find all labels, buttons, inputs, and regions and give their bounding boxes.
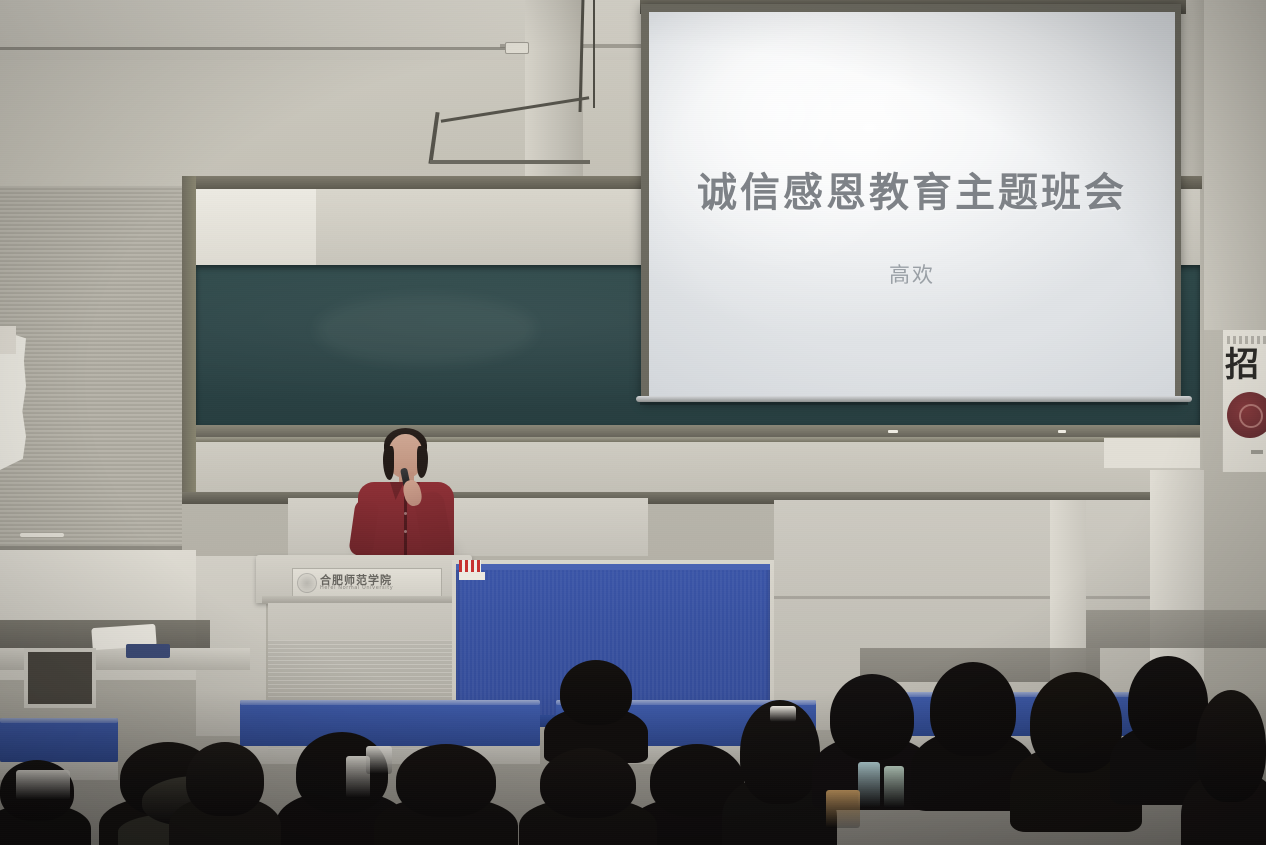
student-head bbox=[396, 744, 496, 817]
shelf-blue-box bbox=[126, 644, 170, 658]
student-desk-edge bbox=[0, 718, 118, 723]
poster-header-text bbox=[1227, 336, 1266, 344]
wall-pillar-far-right bbox=[1204, 0, 1266, 330]
water-bottle-icon bbox=[884, 766, 904, 808]
student-head bbox=[1030, 672, 1122, 773]
bulletin-board-top-edge bbox=[456, 564, 770, 570]
student-head bbox=[830, 674, 914, 760]
snack-pack-icon bbox=[826, 790, 860, 828]
speaker-hair-left bbox=[383, 446, 394, 480]
poster-footer-text bbox=[1251, 450, 1263, 454]
student-head bbox=[186, 742, 264, 816]
speaker-button-a bbox=[404, 512, 407, 515]
recruitment-poster: 招 bbox=[1222, 330, 1266, 472]
ceiling-cable-b bbox=[593, 0, 595, 108]
speaker-button-b bbox=[404, 530, 407, 533]
board-upper-panel-highlight bbox=[196, 189, 316, 265]
wall-behind-speaker bbox=[288, 498, 648, 556]
slide-author: 高欢 bbox=[649, 259, 1175, 289]
lecture-hall-screenshot: 诚信感恩教育主题班会 高欢 招 合肥师范学院 Hefei No bbox=[0, 0, 1266, 845]
student-head bbox=[1196, 690, 1266, 802]
chalk-tray bbox=[196, 425, 1200, 437]
projector-screen: 诚信感恩教育主题班会 高欢 bbox=[649, 12, 1175, 398]
student-head bbox=[560, 660, 632, 725]
wall-cable-horizontal bbox=[430, 160, 590, 164]
university-crest-icon bbox=[297, 573, 317, 593]
bulletin-board-note-white bbox=[459, 572, 485, 580]
tissue-box-icon bbox=[770, 706, 796, 722]
board-lower-panel bbox=[196, 442, 1200, 498]
ceiling-seam-left bbox=[0, 47, 540, 50]
slide-title: 诚信感恩教育主题班会 bbox=[649, 160, 1175, 218]
podium-logo-english: Hefei Normal University bbox=[320, 585, 436, 591]
torn-poster-remnant-small bbox=[0, 326, 16, 354]
wall-louver-panel bbox=[0, 186, 182, 550]
water-bottle-icon bbox=[858, 762, 880, 808]
bulletin-board-note-red bbox=[459, 560, 481, 572]
student-desk bbox=[240, 700, 540, 746]
chalk-piece-b bbox=[1058, 430, 1066, 433]
student-head bbox=[540, 748, 636, 818]
conduit-clip-left bbox=[505, 42, 529, 54]
board-right-white-panel bbox=[1104, 438, 1200, 468]
student-desk bbox=[0, 718, 118, 762]
wall-shadow-band-right bbox=[1086, 610, 1266, 648]
speaker-shirt-placket bbox=[404, 496, 407, 556]
poster-headline: 招 bbox=[1225, 348, 1259, 382]
student-desk-edge bbox=[240, 700, 540, 705]
chalk-piece-a bbox=[888, 430, 898, 433]
red-seal-inner-ring-icon bbox=[1239, 404, 1263, 428]
louver-handle[interactable] bbox=[20, 533, 64, 537]
paper-stack-icon bbox=[16, 770, 70, 800]
board-frame-left bbox=[182, 176, 196, 496]
wall-picture-frame bbox=[24, 648, 96, 708]
screen-bottom-shadow bbox=[640, 402, 1188, 405]
mug-icon bbox=[366, 746, 392, 774]
student-head bbox=[930, 662, 1016, 756]
wall-pillar-left bbox=[525, 0, 583, 180]
wall-right-seam bbox=[774, 596, 1204, 599]
